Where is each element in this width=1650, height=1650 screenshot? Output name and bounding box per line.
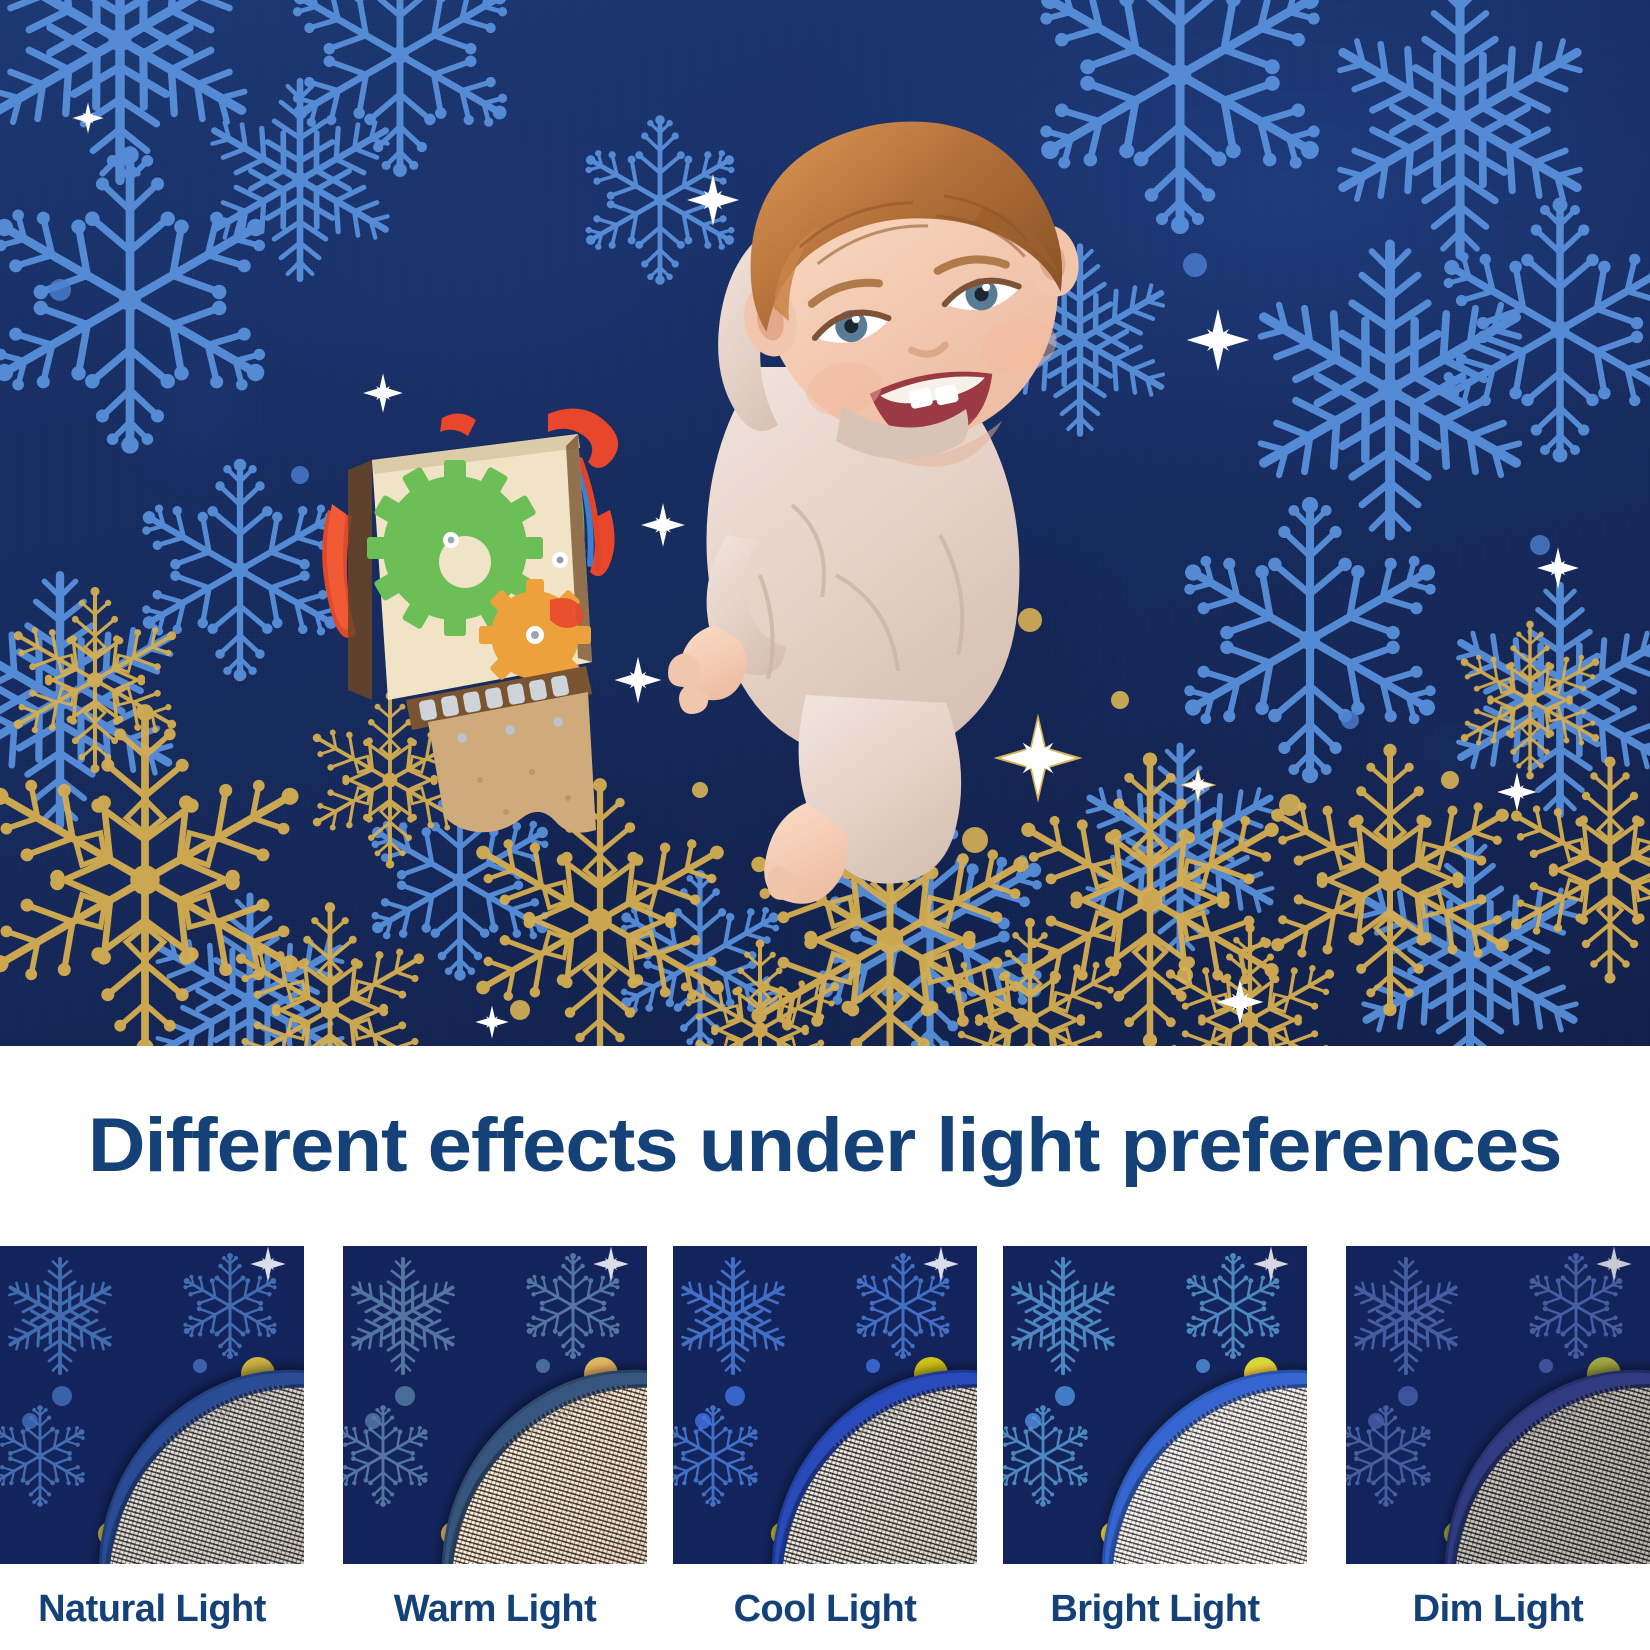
light-sample-label-bright: Bright Light: [1050, 1588, 1259, 1631]
thumbnail-image-cool[interactable]: [673, 1246, 977, 1564]
light-sample-label-natural: Natural Light: [38, 1588, 266, 1631]
light-sample-bright[interactable]: Bright Light: [990, 1246, 1320, 1650]
headline-band: Different effects under light preference…: [0, 1046, 1650, 1246]
light-sample-label-cool: Cool Light: [734, 1588, 917, 1631]
light-sample-cool[interactable]: Cool Light: [660, 1246, 990, 1650]
wooden-busy-board-toy: [310, 400, 640, 870]
hero-product-photo: [0, 0, 1650, 1046]
light-sample-natural[interactable]: Natural Light: [0, 1246, 330, 1650]
light-sample-warm[interactable]: Warm Light: [330, 1246, 660, 1650]
light-preference-thumbnail-strip: Natural Light: [0, 1246, 1650, 1650]
light-sample-dim[interactable]: Dim Light: [1320, 1246, 1650, 1650]
page-title: Different effects under light preference…: [88, 1108, 1562, 1184]
thumbnail-image-natural[interactable]: [0, 1246, 304, 1564]
light-sample-label-warm: Warm Light: [394, 1588, 597, 1631]
thumbnail-image-bright[interactable]: [1003, 1246, 1307, 1564]
light-sample-label-dim: Dim Light: [1413, 1588, 1584, 1631]
thumbnail-image-dim[interactable]: [1346, 1246, 1650, 1564]
baby-photo-subject: [610, 105, 1210, 965]
thumbnail-image-warm[interactable]: [343, 1246, 647, 1564]
